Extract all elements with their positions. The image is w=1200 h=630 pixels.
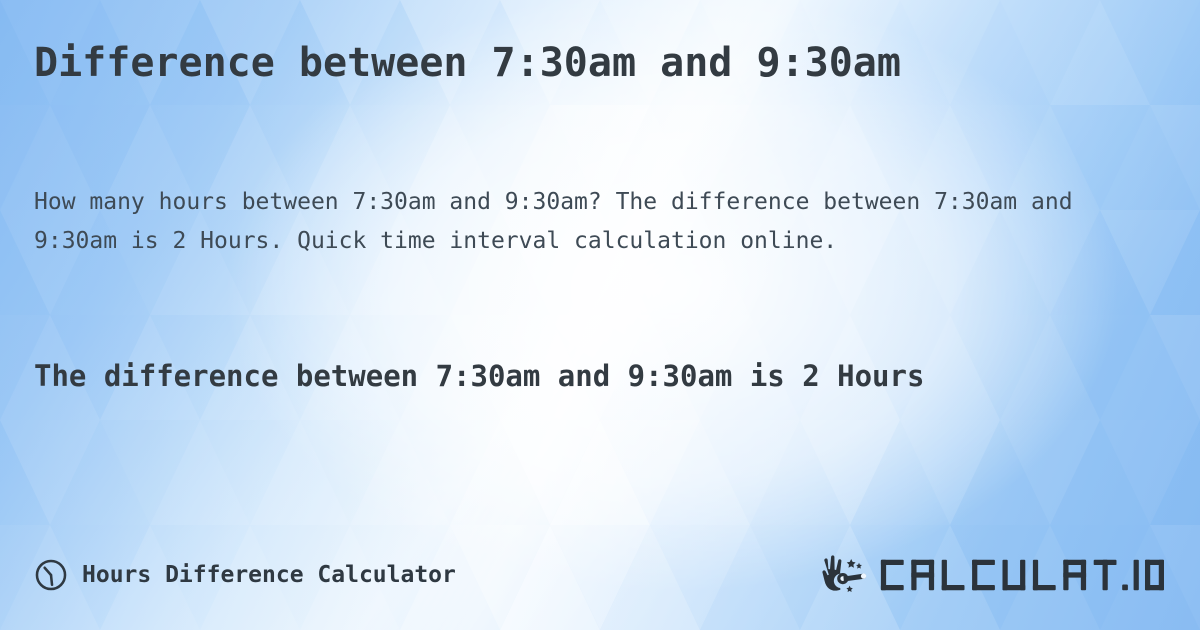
lead-description: How many hours between 7:30am and 9:30am… [34, 183, 1144, 261]
page-title: Difference between 7:30am and 9:30am [34, 40, 1164, 87]
share-card: Difference between 7:30am and 9:30am How… [0, 0, 1200, 630]
footer-calculator-label: Hours Difference Calculator [82, 562, 456, 588]
brand-logo [813, 553, 1166, 597]
card-content: Difference between 7:30am and 9:30am How… [0, 0, 1200, 630]
magic-wand-hand-icon [813, 553, 871, 597]
clock-icon [34, 558, 68, 592]
footer-calculator-label-group: Hours Difference Calculator [34, 558, 456, 592]
answer-heading: The difference between 7:30am and 9:30am… [34, 352, 1139, 400]
brand-wordmark [879, 556, 1166, 594]
card-footer: Hours Difference Calculator [34, 550, 1166, 600]
